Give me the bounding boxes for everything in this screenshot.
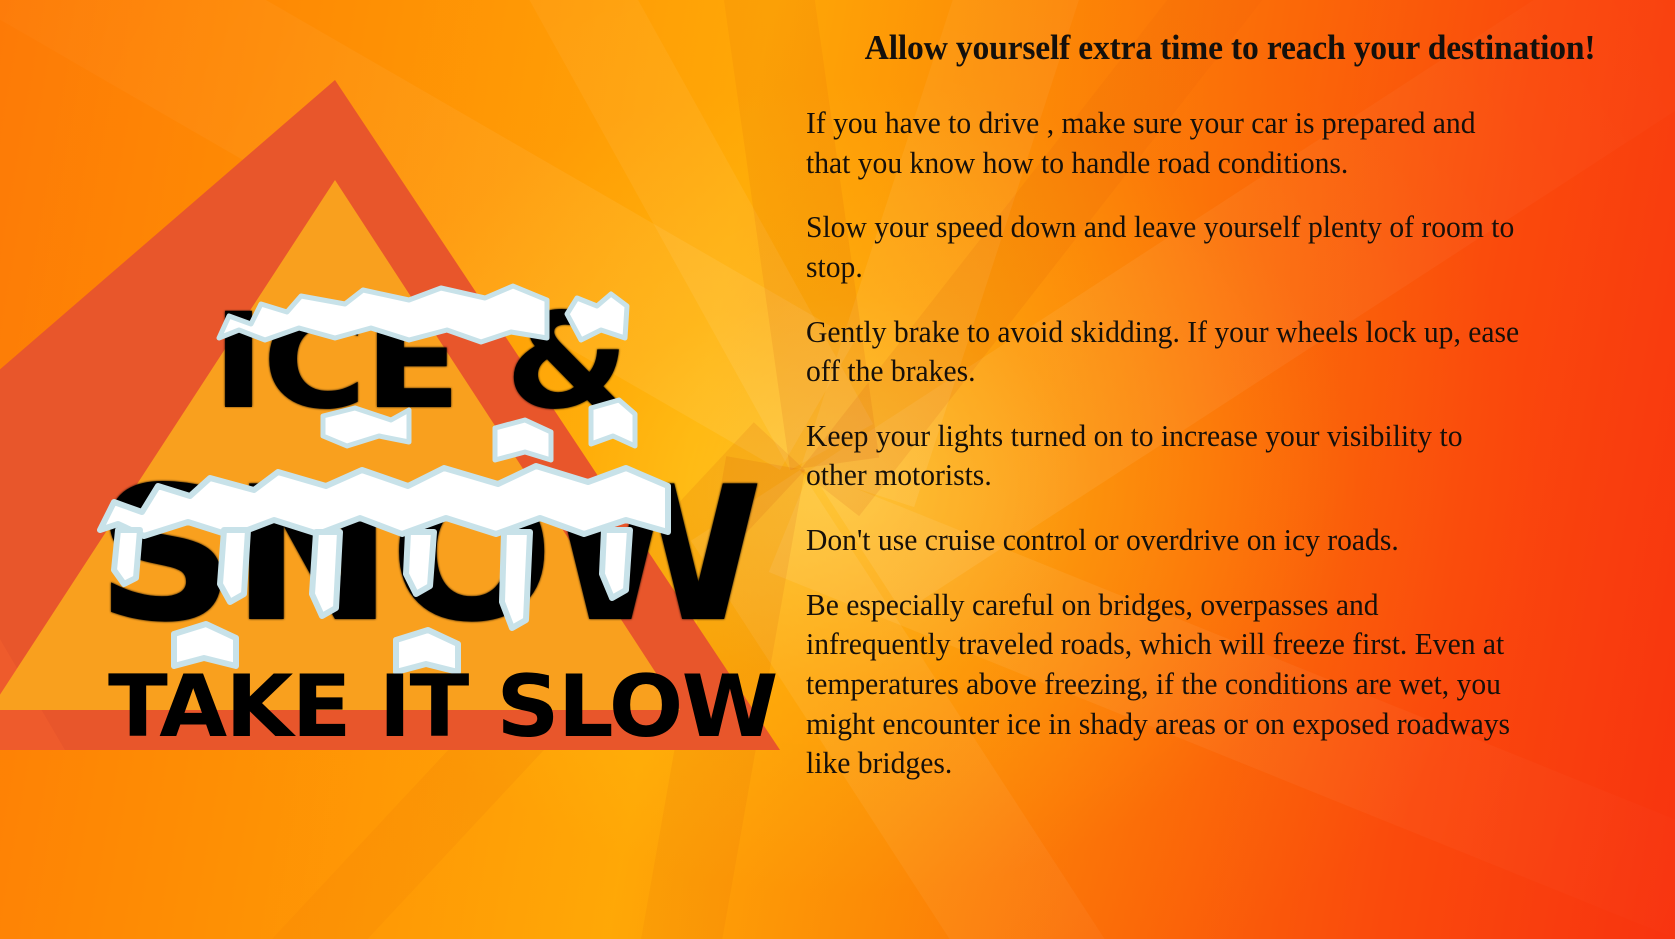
safety-tip: Slow your speed down and leave yourself … — [806, 208, 1524, 287]
ice-and-snow-sign: ICE & SNOW — [0, 0, 800, 939]
sign-tagline: TAKE IT SLOW — [108, 664, 777, 750]
safety-tip: Don't use cruise control or overdrive on… — [806, 521, 1524, 561]
safety-tip: Be especially careful on bridges, overpa… — [806, 586, 1524, 784]
safety-tip: If you have to drive , make sure your ca… — [806, 104, 1524, 183]
safety-tip: Gently brake to avoid skidding. If your … — [806, 313, 1524, 392]
safety-tips-panel: Allow yourself extra time to reach your … — [800, 0, 1675, 939]
winter-driving-safety-poster: ICE & SNOW — [0, 0, 1675, 939]
sign-headline-ice: ICE & — [212, 296, 627, 428]
safety-tips-list: If you have to drive , make sure your ca… — [806, 104, 1546, 784]
safety-tip: Keep your lights turned on to increase y… — [806, 417, 1524, 496]
poster-headline: Allow yourself extra time to reach your … — [817, 28, 1643, 68]
sign-headline-snow: SNOW — [96, 462, 760, 648]
